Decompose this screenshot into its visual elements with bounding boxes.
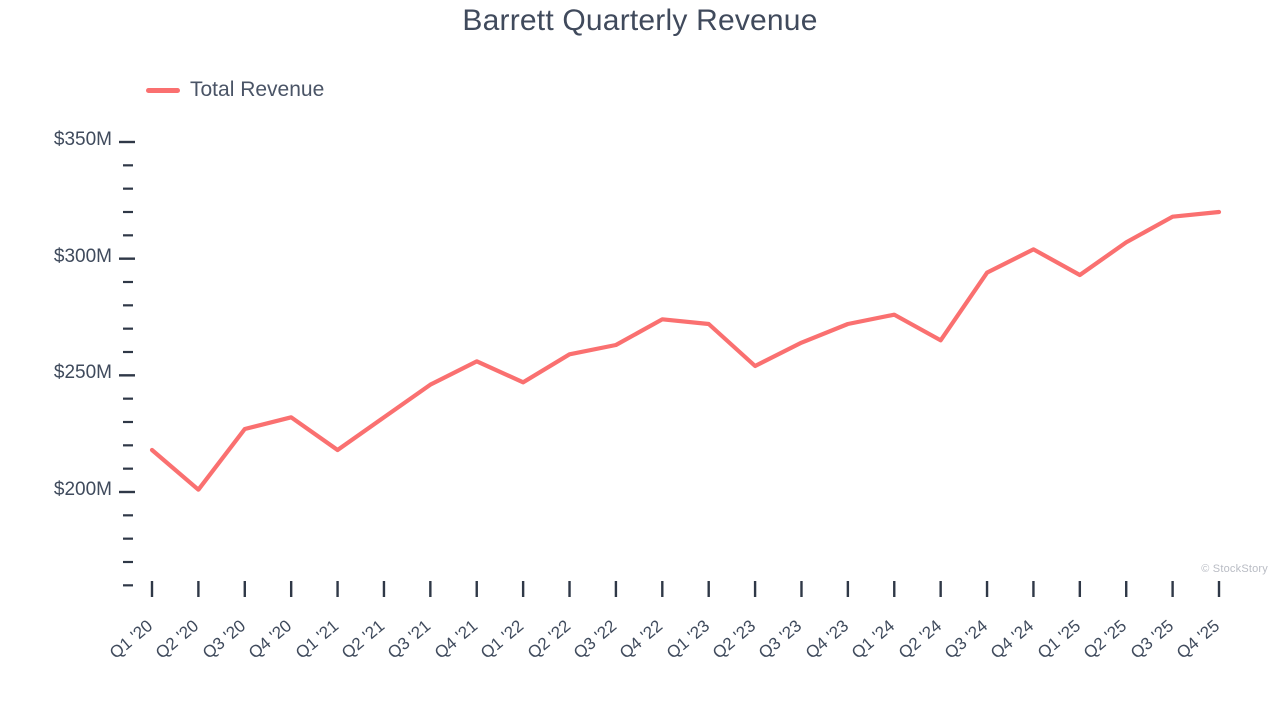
data-series-lines [152,212,1219,490]
y-axis-tick-label: $200M [54,479,112,501]
y-axis-tick-label: $300M [54,246,112,268]
y-axis-major-ticks [119,142,135,492]
chart-plot-area [0,0,1280,720]
chart-container: Barrett Quarterly Revenue Total Revenue … [0,0,1280,720]
watermark-credit: © StockStory [1201,563,1268,575]
y-axis-tick-label: $250M [54,362,112,384]
series-line-total-revenue [152,212,1219,490]
y-axis-tick-label: $350M [54,129,112,151]
x-axis-ticks [152,581,1219,597]
